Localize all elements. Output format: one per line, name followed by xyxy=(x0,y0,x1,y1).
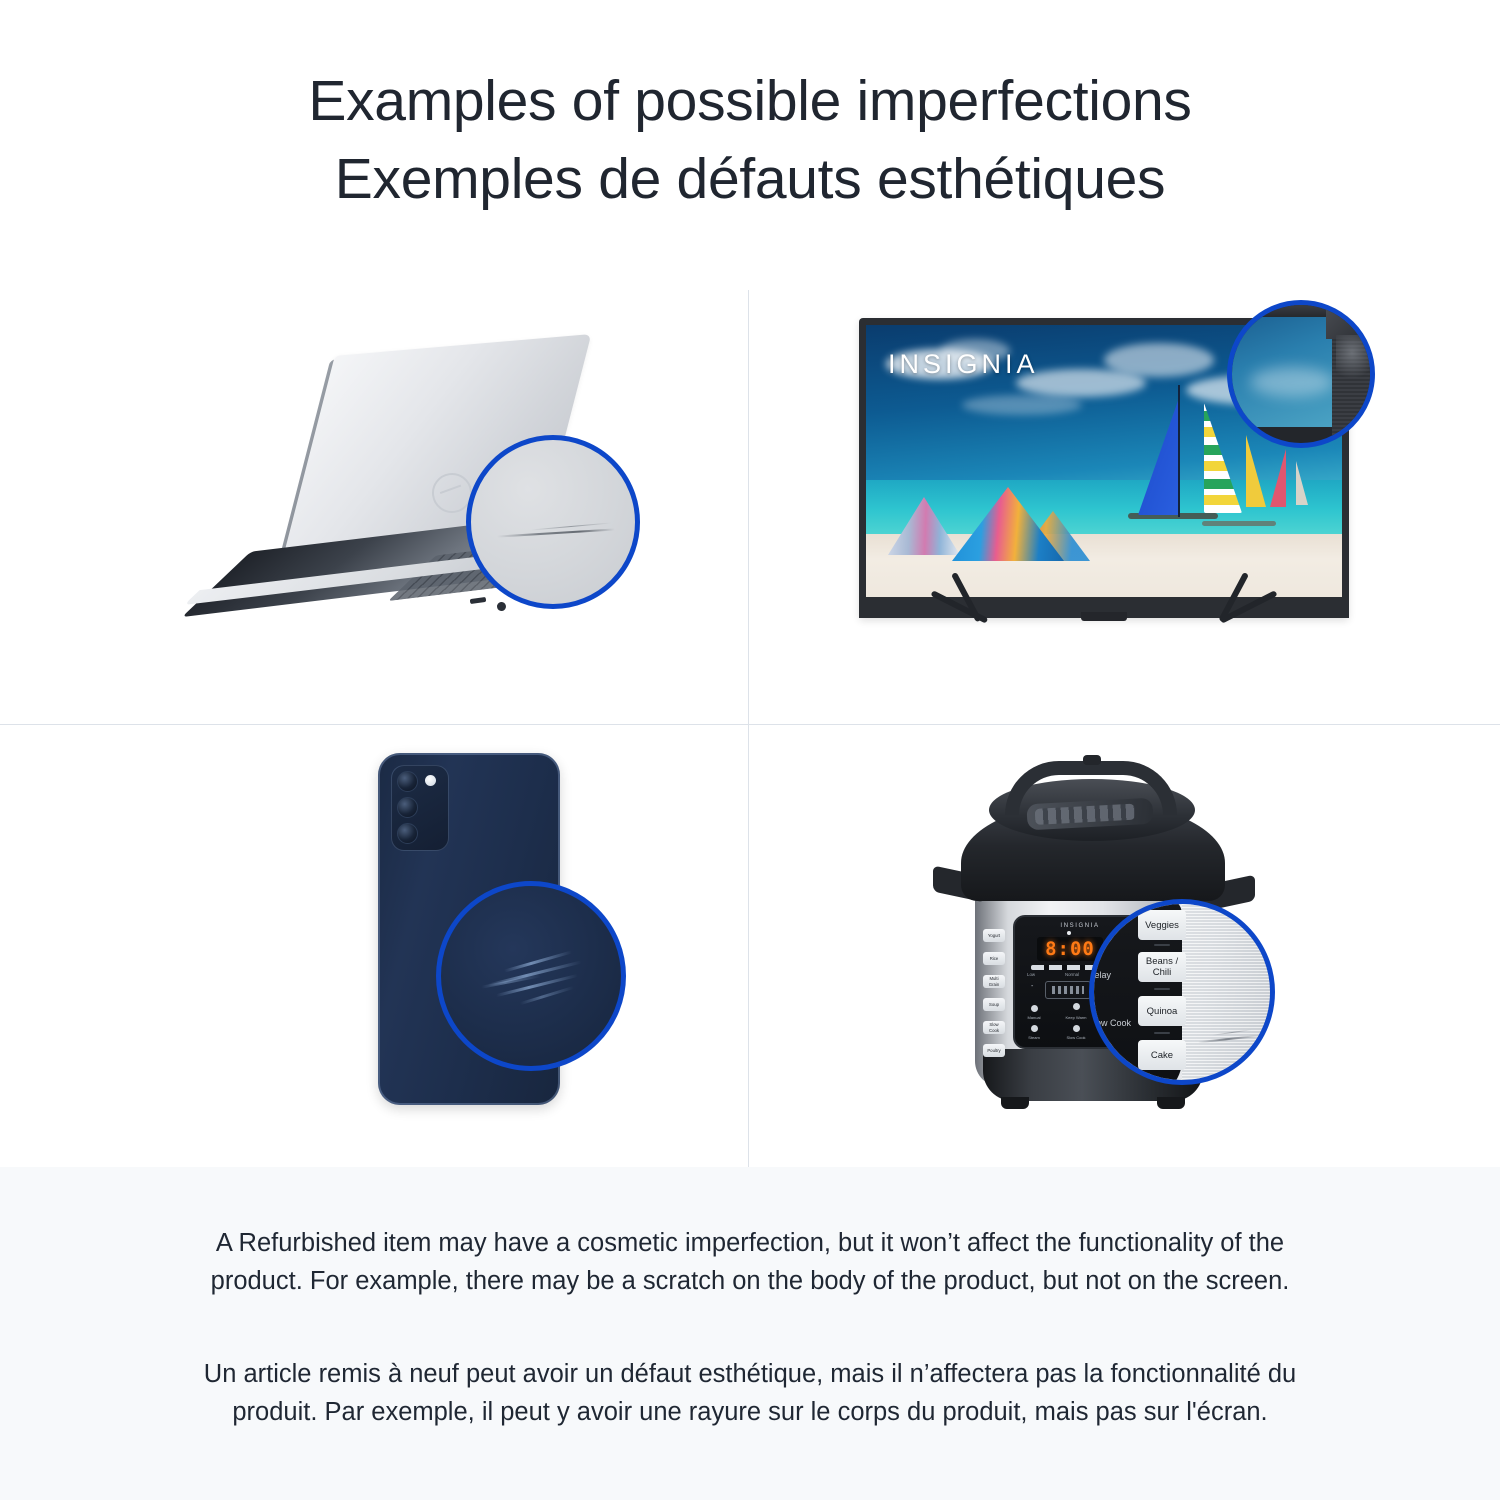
tv-corner-bezel xyxy=(1227,305,1336,317)
cooker-steam-valve xyxy=(1083,755,1101,765)
tv-screen-brand-label: INSIGNIA xyxy=(888,349,1039,380)
tv-corner-cloud xyxy=(1250,367,1334,397)
phone-illustration xyxy=(378,753,618,1123)
cooker-button-keep-warm[interactable] xyxy=(1073,1003,1080,1010)
magnifier-circle-cooker: Delay Slow Cook Veggies Beans / Chili Qu… xyxy=(1089,899,1275,1085)
footer-paragraph-fr: Un article remis à neuf peut avoir un dé… xyxy=(180,1355,1320,1431)
cooker-label-keep-warm: Keep Warm xyxy=(1064,1015,1088,1020)
cooker-left-button-column: Yogurt Rice Multi Grain Soup Slow Cook P… xyxy=(983,929,1005,1067)
footer-description: A Refurbished item may have a cosmetic i… xyxy=(0,1167,1500,1500)
magnified-button-cake[interactable]: Cake xyxy=(1138,1040,1186,1070)
magnified-separator xyxy=(1154,944,1170,946)
cooker-foot xyxy=(1001,1097,1029,1109)
cooker-display-value: 8:00 xyxy=(1045,938,1095,960)
bar-label-normal: Normal xyxy=(1065,972,1079,977)
magnifier-circle-laptop xyxy=(466,435,640,609)
refurbished-imperfections-infographic: Examples of possible imperfections Exemp… xyxy=(0,0,1500,1500)
camera-lens-icon xyxy=(397,797,418,818)
pressure-cooker-illustration: INSIGNIA 8:00 Low Normal More - + xyxy=(931,749,1291,1139)
phone-scratch-mark xyxy=(504,950,572,972)
cooker-steel-grain xyxy=(1182,904,1275,1085)
title-line-fr: Exemples de défauts esthétiques xyxy=(0,140,1500,218)
cooker-button-yogurt[interactable]: Yogurt xyxy=(983,929,1005,942)
tv-center-nub xyxy=(1081,612,1127,621)
cooker-button-multigrain[interactable]: Multi Grain xyxy=(983,975,1005,988)
footer-paragraph-en: A Refurbished item may have a cosmetic i… xyxy=(180,1224,1320,1300)
magnified-label-slow-cook: Slow Cook xyxy=(1089,1018,1131,1028)
cooker-label-manual: Manual xyxy=(1022,1015,1046,1020)
product-examples-grid: INSIGNIA xyxy=(0,260,1500,1167)
title-line-en: Examples of possible imperfections xyxy=(0,62,1500,140)
cooker-label-slow-cook: Slow Cook xyxy=(1064,1035,1088,1040)
cooker-button-rice[interactable]: Rice xyxy=(983,952,1005,965)
laptop-scratch-mark xyxy=(497,528,615,537)
magnified-separator xyxy=(1154,1032,1170,1034)
magnifier-circle-tv xyxy=(1227,300,1375,448)
cooker-button-soup[interactable]: Soup xyxy=(983,998,1005,1011)
cooker-time-chip xyxy=(1045,981,1091,999)
camera-flash-icon xyxy=(425,775,436,786)
cooker-button-slow-cook[interactable] xyxy=(1073,1025,1080,1032)
magnifier-circle-phone xyxy=(436,881,626,1071)
panel-laptop xyxy=(0,260,748,724)
magnified-label-delay: Delay xyxy=(1089,970,1111,980)
cooker-button-slowcook-side[interactable]: Slow Cook xyxy=(983,1021,1005,1034)
cooker-indicator-dot xyxy=(1067,931,1071,935)
cooker-label-steam: Steam xyxy=(1022,1035,1046,1040)
screen-mast xyxy=(1178,385,1180,517)
panel-phone xyxy=(0,725,748,1167)
screen-boat-hull xyxy=(1202,521,1276,526)
panel-pressure-cooker: INSIGNIA 8:00 Low Normal More - + xyxy=(749,725,1500,1167)
tv-scuff-mark xyxy=(1336,335,1375,379)
camera-lens-icon xyxy=(397,823,418,844)
cooker-handle xyxy=(1005,761,1177,815)
cooker-button-poultry[interactable]: Poultry xyxy=(983,1044,1005,1057)
magnified-button-quinoa[interactable]: Quinoa xyxy=(1138,996,1186,1026)
cooker-foot xyxy=(1157,1097,1185,1109)
cooker-button-steam[interactable] xyxy=(1031,1025,1038,1032)
magnified-button-veggies[interactable]: Veggies xyxy=(1138,910,1186,940)
panel-tv: INSIGNIA xyxy=(749,260,1500,724)
laptop-usb-port xyxy=(470,597,487,604)
magnified-separator xyxy=(1154,988,1170,990)
laptop-illustration xyxy=(170,355,590,635)
bar-label-low: Low xyxy=(1027,972,1035,977)
phone-camera-module xyxy=(391,765,449,851)
page-title: Examples of possible imperfections Exemp… xyxy=(0,62,1500,218)
laptop-round-port xyxy=(496,601,506,611)
tv-illustration: INSIGNIA xyxy=(859,300,1379,670)
cooker-button-manual[interactable] xyxy=(1031,1005,1038,1012)
magnified-button-beans-chili[interactable]: Beans / Chili xyxy=(1138,952,1186,982)
screen-cloud xyxy=(1104,343,1214,377)
cooker-minus-icon[interactable]: - xyxy=(1031,983,1033,990)
camera-lens-icon xyxy=(397,771,418,792)
screen-cloud xyxy=(962,395,1082,415)
tv-corner-round xyxy=(1326,303,1362,339)
